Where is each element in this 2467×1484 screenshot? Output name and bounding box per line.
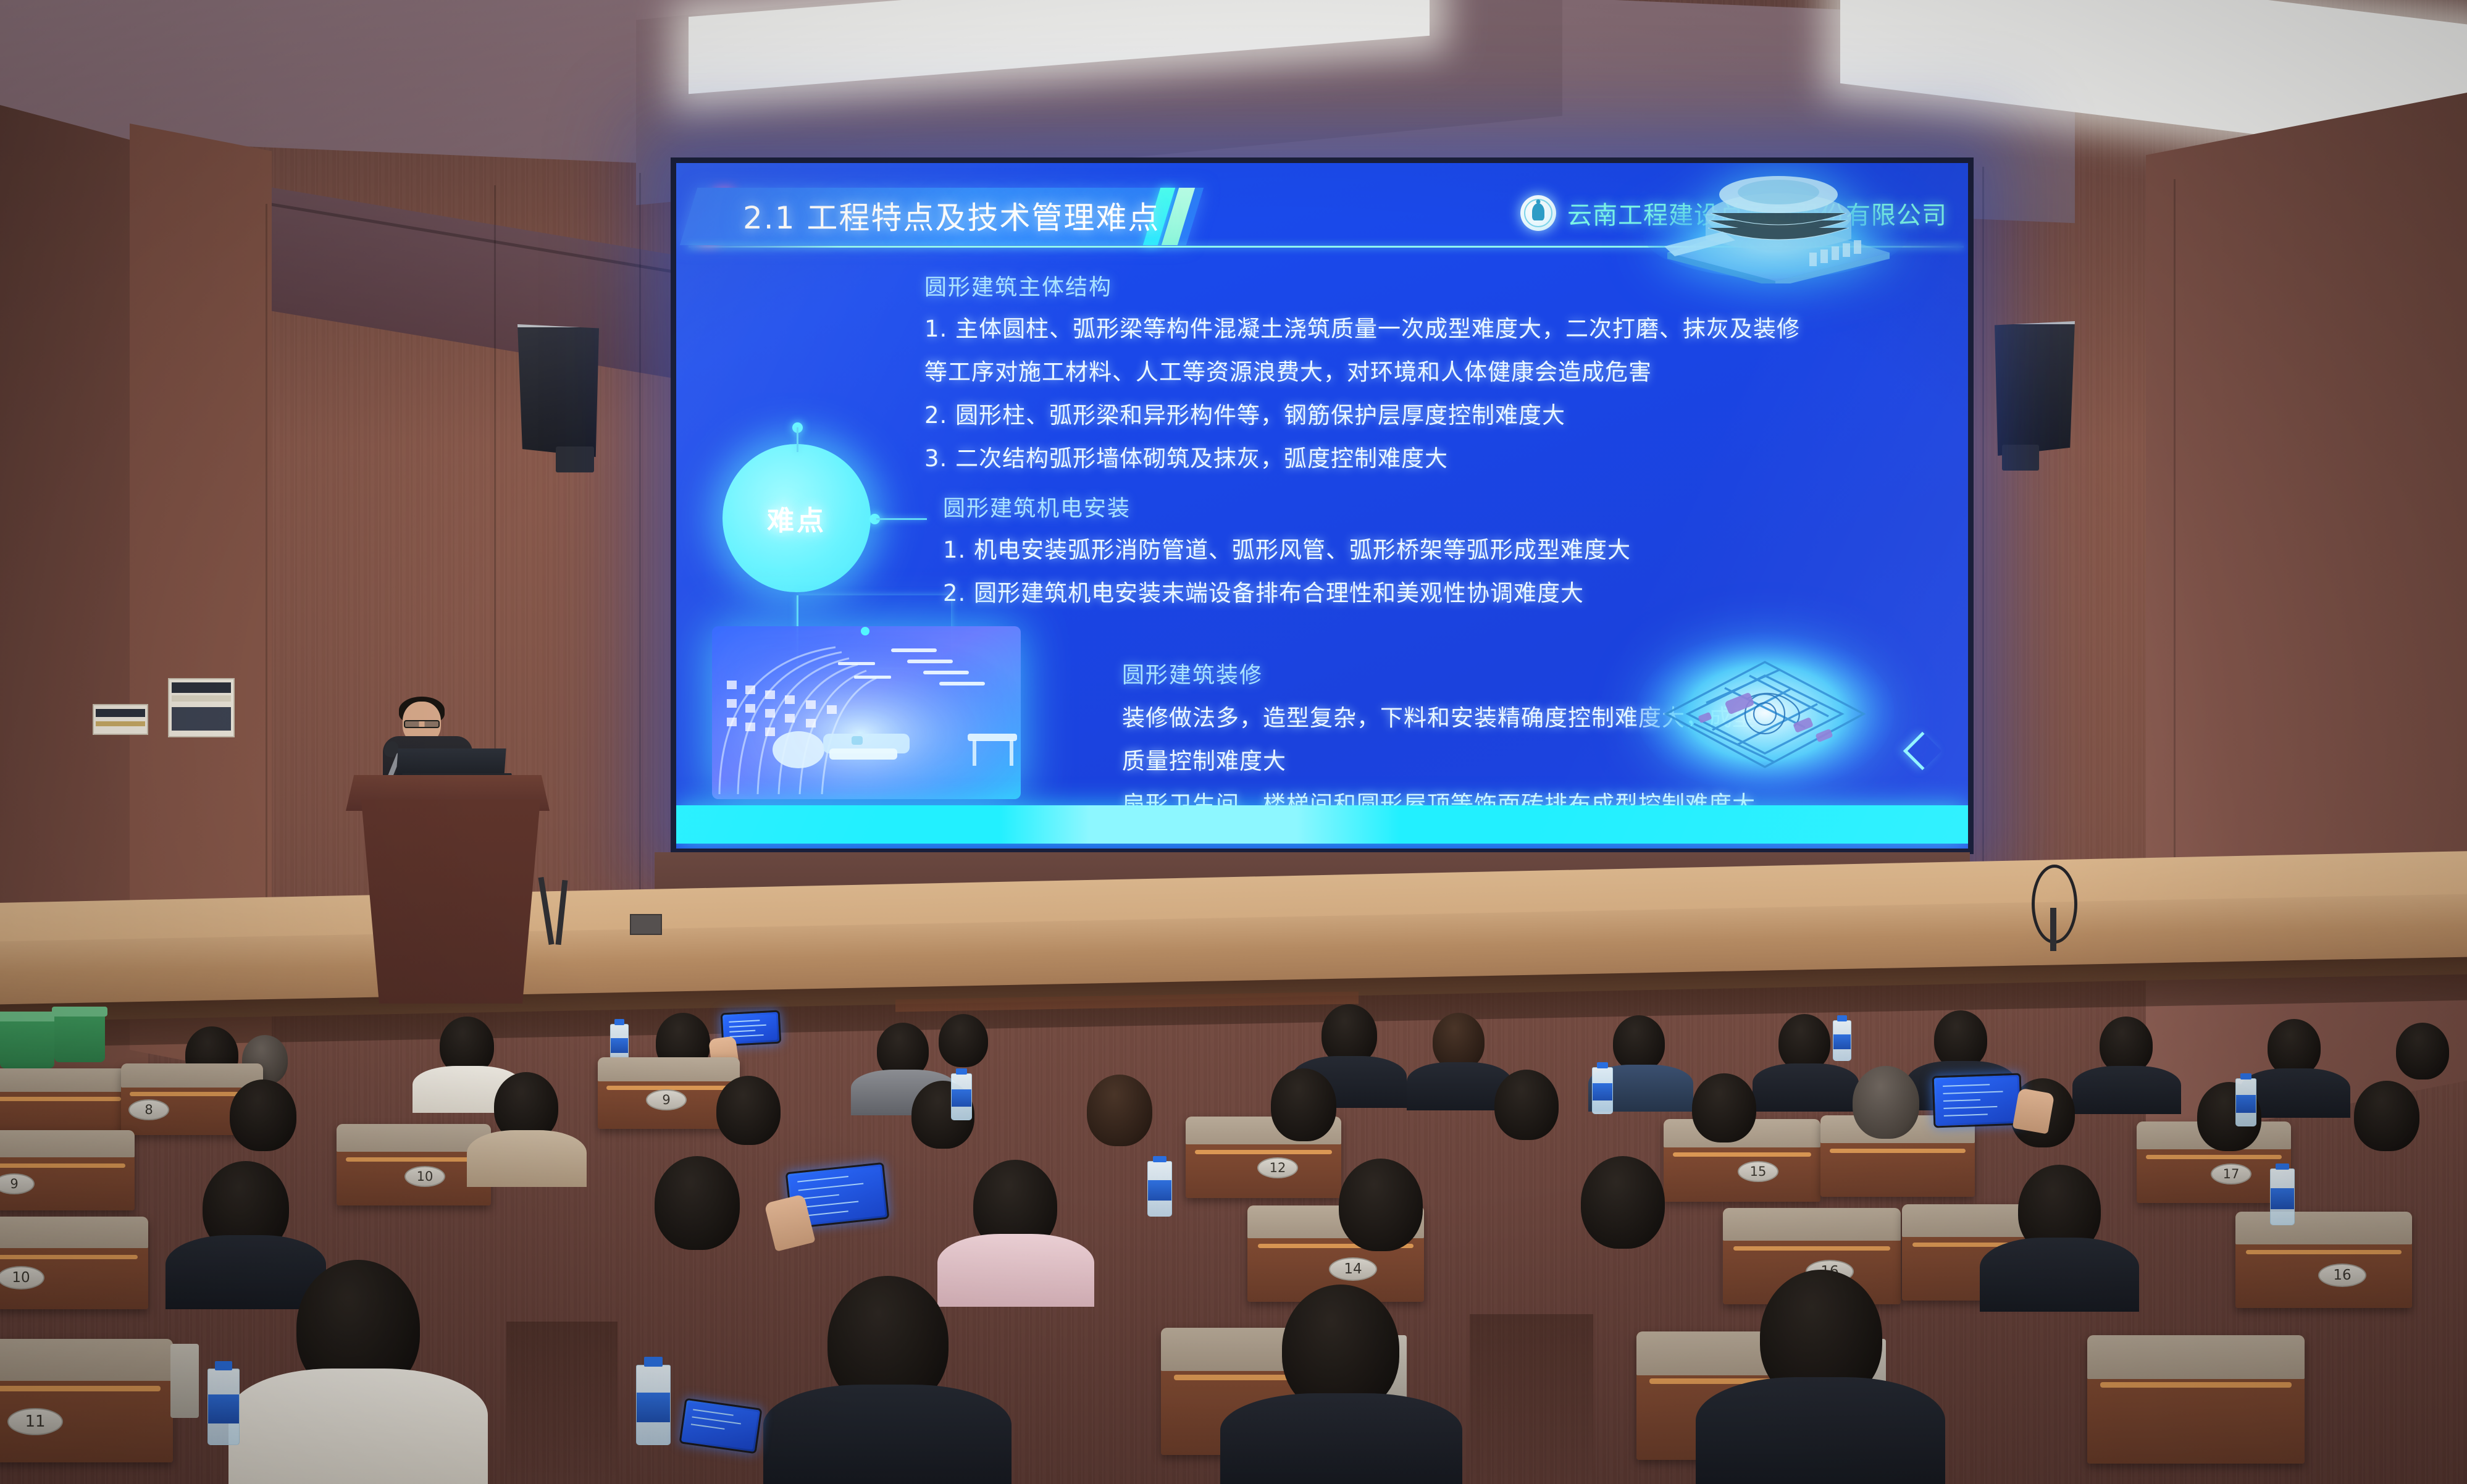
audience-head — [1853, 1066, 1919, 1139]
seat-number-plate: 9 — [646, 1089, 687, 1110]
bottle-label — [952, 1089, 971, 1107]
company-logo-icon — [1520, 195, 1556, 231]
slide-title: 2.1 工程特点及技术管理难点 — [743, 196, 1212, 240]
water-bottle — [636, 1365, 671, 1445]
audience-head — [230, 1079, 296, 1151]
seat-headrest — [0, 1217, 148, 1248]
seat-number-plate: 15 — [1738, 1161, 1778, 1182]
audience-head — [1494, 1070, 1559, 1140]
seat-headrest — [0, 1339, 173, 1381]
seat-headrest — [0, 1068, 130, 1092]
speaker-right — [1995, 321, 2075, 456]
presentation-slide: 2.1 工程特点及技术管理难点 云南工程建设总承包股份有限公司 难点 圆形建筑主… — [676, 163, 1968, 849]
bottle-label — [1833, 1034, 1851, 1049]
audience-shoulders — [1220, 1393, 1462, 1484]
seat-trim — [0, 1255, 138, 1259]
seat[interactable] — [0, 1068, 130, 1138]
water-bottle — [2270, 1168, 2295, 1225]
seat-trim — [1733, 1246, 1890, 1251]
water-bottle — [951, 1073, 972, 1120]
seat-number-plate: 9 — [0, 1173, 35, 1194]
audience-head — [1087, 1075, 1152, 1146]
bottle-label — [611, 1038, 628, 1053]
panel-mid — [172, 695, 231, 702]
panel-display — [172, 707, 231, 731]
seat[interactable]: 10 — [0, 1217, 148, 1309]
audience-head — [1433, 1013, 1485, 1070]
seat-trim — [2246, 1250, 2402, 1254]
seat-trim — [0, 1386, 161, 1391]
audience-head — [1778, 1014, 1830, 1071]
water-bottle — [1592, 1067, 1613, 1114]
seat-number-plate: 12 — [1257, 1157, 1298, 1178]
bim-circular-building-render — [1630, 163, 1920, 283]
phone-screen — [683, 1402, 758, 1449]
seat-number-plate: 16 — [2318, 1264, 2366, 1287]
seat-headrest — [1723, 1208, 1901, 1241]
audience-head — [2100, 1017, 2153, 1073]
seat-headrest — [0, 1130, 135, 1157]
bottle-cap — [2276, 1163, 2289, 1170]
connector-line-mid — [876, 518, 927, 520]
wall-control-panel-right[interactable] — [168, 678, 235, 737]
section-1-line-2: 等工序对施工材料、人工等资源浪费大，对环境和人体健康会造成危害 — [924, 353, 1652, 387]
bottle-cap — [614, 1019, 624, 1025]
cable-drop — [2050, 908, 2056, 951]
wall-seam-1 — [266, 204, 267, 933]
seat[interactable]: 16 — [2235, 1212, 2412, 1308]
auditorium-scene: 2.1 工程特点及技术管理难点 云南工程建设总承包股份有限公司 难点 圆形建筑主… — [0, 0, 2467, 1484]
audience-head — [716, 1076, 781, 1145]
audience-head — [1692, 1073, 1756, 1142]
audience-shoulders — [1696, 1377, 1945, 1484]
bottle-cap — [2240, 1073, 2251, 1079]
section-3-line-2: 质量控制难度大 — [1122, 742, 1286, 776]
bottle-cap — [1837, 1015, 1847, 1021]
difficulty-badge-label: 难点 — [767, 498, 826, 538]
audience-shoulders — [1753, 1063, 1859, 1112]
smartphone-recording[interactable] — [1932, 1073, 2023, 1128]
floor-outlet-box[interactable] — [630, 914, 662, 935]
section-1-line-1: 1. 主体圆柱、弧形梁等构件混凝土浇筑质量一次成型难度大，二次打磨、抹灰及装修 — [924, 310, 1800, 343]
armrest — [170, 1344, 199, 1418]
hand — [2013, 1088, 2055, 1134]
aisle-shadow — [1470, 1314, 1593, 1481]
seat-trim — [0, 1097, 121, 1101]
seat-number-plate: 11 — [7, 1408, 63, 1435]
audience-head — [1339, 1159, 1423, 1251]
panel-slot — [96, 709, 145, 717]
bottle-label — [637, 1393, 670, 1423]
phone-screen — [1936, 1077, 2019, 1125]
audience-shoulders — [467, 1130, 587, 1187]
audience-shoulders — [228, 1369, 488, 1484]
section-2-heading: 圆形建筑机电安装 — [943, 490, 1131, 522]
seat[interactable] — [2087, 1335, 2305, 1464]
wall-control-panel-left[interactable] — [93, 704, 148, 735]
seat-trim — [0, 1163, 125, 1168]
audience-shoulders — [1980, 1238, 2139, 1312]
seat-trim — [1673, 1152, 1811, 1157]
water-bottle — [1833, 1020, 1851, 1061]
section-1-line-3: 2. 圆形柱、弧形梁和异形构件等，钢筋保护层厚度控制难度大 — [924, 396, 1565, 430]
audience-head — [939, 1014, 988, 1067]
bottle-label — [2271, 1188, 2294, 1209]
speaker-right-mount — [2002, 445, 2039, 471]
seat-number-plate: 10 — [0, 1266, 44, 1289]
seat-trim — [2100, 1382, 2292, 1388]
connector-line-top — [797, 427, 798, 452]
audience-head — [1581, 1156, 1665, 1249]
laptop-screen — [396, 748, 506, 777]
bottle-cap — [956, 1068, 967, 1075]
section-1-line-4: 3. 二次结构弧形墙体砌筑及抹灰，弧度控制难度大 — [924, 440, 1448, 473]
seat-number-plate: 14 — [1329, 1257, 1377, 1281]
bottle-label — [208, 1394, 239, 1423]
panel-indicator — [96, 721, 145, 726]
wall-seam-5 — [2174, 179, 2176, 939]
section-1-heading: 圆形建筑主体结构 — [924, 269, 1112, 301]
seat-trim — [346, 1157, 482, 1162]
presenter-glasses — [404, 720, 440, 728]
seat-trim — [2146, 1155, 2282, 1159]
audience-shoulders — [937, 1234, 1094, 1307]
bim-library-interior-render — [706, 621, 1027, 807]
panel-top-slot — [172, 682, 231, 693]
seat-headrest — [121, 1063, 263, 1088]
seat-number-plate: 8 — [128, 1099, 169, 1120]
section-2-line-1: 1. 机电安装弧形消防管道、弧形风管、弧形桥架等弧形成型难度大 — [943, 531, 1631, 564]
auditorium-seating: 8 9 9 10 12 15 17 — [0, 976, 2467, 1484]
water-bottle — [1147, 1161, 1172, 1217]
bottle-label — [1593, 1083, 1612, 1100]
seat-headrest — [2087, 1335, 2305, 1379]
water-bottle — [2235, 1078, 2256, 1126]
bottle-cap — [1153, 1156, 1166, 1162]
audience-head — [2354, 1081, 2419, 1151]
seat[interactable]: 11 — [0, 1339, 173, 1462]
audience-shoulders — [2072, 1066, 2181, 1114]
speaker-left-mount — [556, 446, 594, 472]
water-bottle — [207, 1369, 240, 1445]
wall-seam-4 — [1982, 167, 1984, 939]
seat-headrest — [2235, 1212, 2412, 1244]
seat-trim — [1830, 1149, 1966, 1153]
slide-footer-bar — [676, 805, 1968, 844]
audience-head — [2396, 1023, 2449, 1079]
projection-screen-frame: 2.1 工程特点及技术管理难点 云南工程建设总承包股份有限公司 难点 圆形建筑主… — [671, 157, 1974, 854]
lectern — [361, 800, 540, 1004]
seat-number-plate: 10 — [404, 1166, 445, 1187]
audience-head — [2268, 1019, 2321, 1076]
section-2-line-2: 2. 圆形建筑机电安装末端设备排布合理性和美观性协调难度大 — [943, 574, 1584, 608]
speaker-left — [517, 324, 599, 457]
audience-head — [1934, 1010, 1987, 1068]
audience-head — [1271, 1068, 1336, 1141]
wall-seam-3 — [639, 173, 641, 926]
aisle-shadow — [506, 1322, 618, 1482]
audience-head — [1613, 1015, 1665, 1071]
seat[interactable]: 9 — [0, 1130, 135, 1210]
bottle-label — [2236, 1095, 2256, 1113]
audience-shoulders — [763, 1385, 1012, 1484]
logo-bell-shape — [1532, 203, 1544, 220]
bottle-cap — [215, 1361, 232, 1370]
section-3-heading: 圆形建筑装修 — [1122, 657, 1263, 689]
bim-mep-isometric-diagram — [1620, 621, 1910, 807]
seat-trim — [1195, 1150, 1332, 1154]
bottle-cap — [1597, 1062, 1608, 1068]
difficulty-badge: 难点 — [723, 444, 871, 592]
smartphone[interactable] — [679, 1398, 762, 1454]
bottle-cap — [644, 1357, 663, 1367]
audience-head — [655, 1156, 740, 1250]
seat-headrest — [598, 1057, 740, 1081]
bottle-label — [1148, 1180, 1171, 1201]
seat-number-plate: 17 — [2211, 1163, 2251, 1184]
